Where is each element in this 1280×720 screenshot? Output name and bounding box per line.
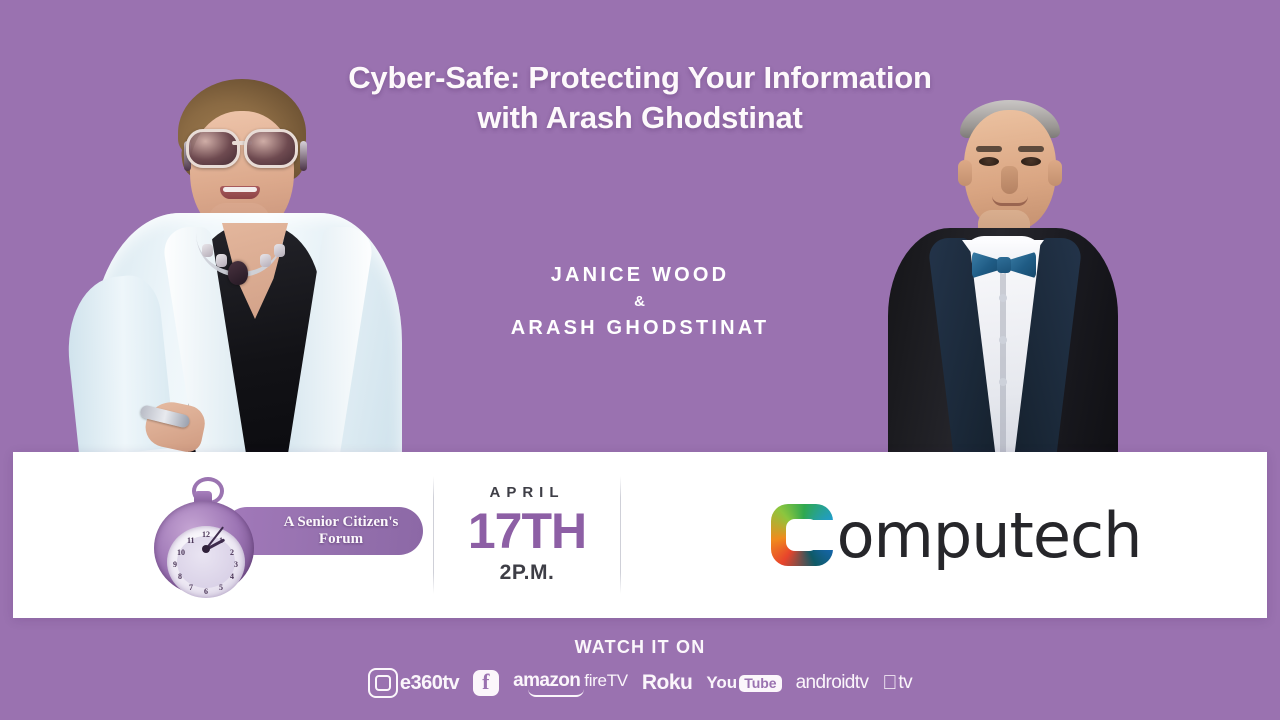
event-promo-poster: Cyber-Safe: Protecting Your Information … xyxy=(0,0,1280,720)
appletv-label: tv xyxy=(898,672,912,694)
youtube-label-you: You xyxy=(706,673,737,693)
e360tv-icon xyxy=(368,668,398,698)
sponsor-name: omputech xyxy=(837,499,1142,572)
youtube-icon: Tube xyxy=(739,675,781,692)
date-day: 17TH xyxy=(434,504,620,558)
androidtv-label: androidtv xyxy=(796,672,869,694)
clock-numeral: 11 xyxy=(187,536,195,545)
roku-label: Roku xyxy=(642,671,693,695)
clock-numeral: 7 xyxy=(189,583,193,592)
platform-facebook[interactable] xyxy=(473,670,499,696)
date-month: APRIL xyxy=(434,482,620,504)
necklace-bead xyxy=(274,244,285,257)
title-line-1: Cyber-Safe: Protecting Your Information xyxy=(0,58,1280,98)
mouth xyxy=(992,196,1028,206)
eye-right xyxy=(1021,157,1041,166)
hand-pin xyxy=(202,545,210,553)
platform-androidtv[interactable]: androidtv xyxy=(796,672,869,694)
platform-youtube[interactable]: You Tube xyxy=(706,673,781,693)
clock-numeral: 3 xyxy=(234,560,238,569)
platform-amazon-firetv[interactable]: amazon fireTV xyxy=(513,670,628,697)
page-title: Cyber-Safe: Protecting Your Information … xyxy=(0,58,1280,138)
necklace-bead xyxy=(202,244,213,257)
shirt-button xyxy=(999,378,1007,386)
nose xyxy=(1001,166,1018,194)
eyebrow-right xyxy=(1018,146,1044,152)
firetv-label: fireTV xyxy=(584,671,628,691)
forum-name-line-1: A Senior Citizen's xyxy=(284,514,399,530)
clock-numeral: 12 xyxy=(202,530,210,539)
facebook-icon xyxy=(473,670,499,696)
speaker-name-first: JANICE WOOD xyxy=(0,261,1280,289)
mouth xyxy=(220,186,260,199)
watch-inner-dial xyxy=(177,536,235,588)
clock-numeral: 8 xyxy=(178,572,182,581)
platform-e360tv[interactable]: e360tv xyxy=(368,668,459,698)
clock-numeral: 2 xyxy=(230,548,234,557)
watch-it-on-heading: WATCH IT ON xyxy=(0,636,1280,658)
e360tv-label: e360tv xyxy=(400,672,459,695)
date-time: 2P.M. xyxy=(434,558,620,588)
amazon-smile-icon xyxy=(528,689,584,697)
pocket-watch-icon: 12 1 2 3 4 5 6 7 8 9 10 11 xyxy=(152,487,256,591)
platform-appletv[interactable]:  tv xyxy=(882,672,912,694)
watch-it-on-section: WATCH IT ON xyxy=(0,636,1280,658)
eye-left xyxy=(979,157,999,166)
speaker-name-second: ARASH GHODSTINAT xyxy=(0,314,1280,342)
clock-numeral: 6 xyxy=(204,587,208,596)
sponsor-logo: omputech xyxy=(621,499,1267,572)
platform-roku[interactable]: Roku xyxy=(642,671,693,695)
clock-numeral: 9 xyxy=(173,560,177,569)
speaker-names: JANICE WOOD & ARASH GHODSTINAT xyxy=(0,261,1280,342)
info-bar: A Senior Citizen's Forum 12 1 2 3 4 5 xyxy=(13,452,1267,618)
speaker-ampersand: & xyxy=(0,289,1280,314)
streaming-platform-list: e360tv amazon fireTV Roku You Tube andro… xyxy=(0,668,1280,698)
clock-numeral: 10 xyxy=(177,548,185,557)
clock-numeral: 5 xyxy=(219,583,223,592)
forum-branding: A Senior Citizen's Forum 12 1 2 3 4 5 xyxy=(13,475,433,595)
apple-icon:  xyxy=(882,673,897,693)
clock-numeral: 4 xyxy=(230,572,234,581)
ear-right xyxy=(1048,160,1062,186)
forum-name-line-2: Forum xyxy=(319,531,363,547)
watch-bezel: 12 1 2 3 4 5 6 7 8 9 10 11 xyxy=(154,501,254,595)
watch-face: 12 1 2 3 4 5 6 7 8 9 10 11 xyxy=(167,526,245,598)
c-opening xyxy=(813,520,835,550)
event-date: APRIL 17TH 2P.M. xyxy=(434,482,620,588)
computech-c-icon xyxy=(771,504,833,566)
earring-right xyxy=(300,141,307,171)
forum-name: A Senior Citizen's Forum xyxy=(248,514,399,548)
eyebrow-left xyxy=(976,146,1002,152)
ear-left xyxy=(958,160,972,186)
title-line-2: with Arash Ghodstinat xyxy=(0,98,1280,138)
